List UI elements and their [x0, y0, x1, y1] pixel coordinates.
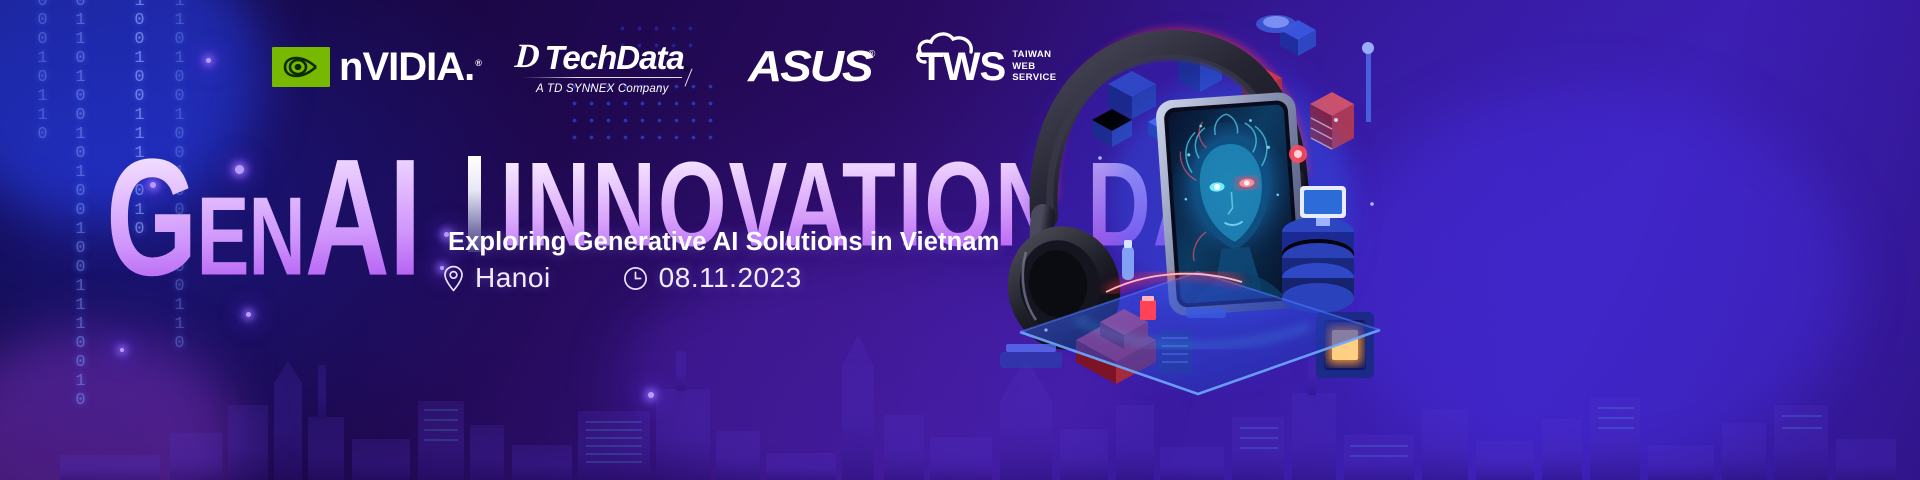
nvidia-word-first: n — [339, 45, 362, 89]
3d-ai-tech-isometric-illustration — [980, 0, 1400, 400]
asus-wordmark: ASUS — [748, 45, 871, 89]
genai-ai: AI — [305, 125, 421, 311]
event-location-label: Hanoi — [475, 262, 551, 294]
genai-brand-text: GENAI — [106, 142, 421, 314]
nvidia-registered-mark: ® — [475, 58, 481, 68]
partner-logo-row: nVIDIA.® D TechData ® A TD SYNNEX Compan… — [272, 36, 1057, 98]
genai-en: EN — [197, 175, 305, 300]
event-location: Hanoi — [443, 262, 551, 294]
techdata-wordmark: D TechData ® — [515, 40, 690, 74]
city-skyline-silhouette — [0, 305, 1920, 480]
binary-column: 00010110 — [34, 0, 51, 142]
nvidia-period: . — [464, 45, 474, 89]
event-meta-row: Hanoi 08.11.2023 — [443, 262, 802, 294]
cloud-icon — [915, 30, 981, 69]
genai-g: G — [106, 125, 197, 311]
event-date: 08.11.2023 — [623, 262, 802, 294]
clock-icon — [623, 266, 648, 291]
logo-nvidia[interactable]: nVIDIA.® — [272, 47, 481, 87]
techdata-word: TechData — [544, 41, 683, 74]
subtitle: Exploring Generative AI Solutions in Vie… — [448, 228, 999, 257]
genai-innovation-day-banner: 00010110 0110100101001001110010 10010011… — [0, 0, 1920, 480]
techdata-underline-rule — [522, 77, 682, 78]
logo-techdata[interactable]: D TechData ® A TD SYNNEX Company — [515, 40, 690, 95]
event-date-label: 08.11.2023 — [659, 262, 802, 294]
techdata-d-monogram-icon: D — [514, 40, 541, 74]
sparkle-dot — [206, 58, 211, 63]
logo-asus[interactable]: ASUS ® — [748, 45, 876, 89]
nvidia-wordmark: nVIDIA.® — [339, 47, 481, 87]
map-pin-icon — [443, 265, 464, 292]
techdata-tagline: A TD SYNNEX Company — [536, 83, 668, 95]
nvidia-eye-logo-icon — [272, 47, 330, 87]
nvidia-word-rest: VIDIA — [362, 45, 464, 89]
